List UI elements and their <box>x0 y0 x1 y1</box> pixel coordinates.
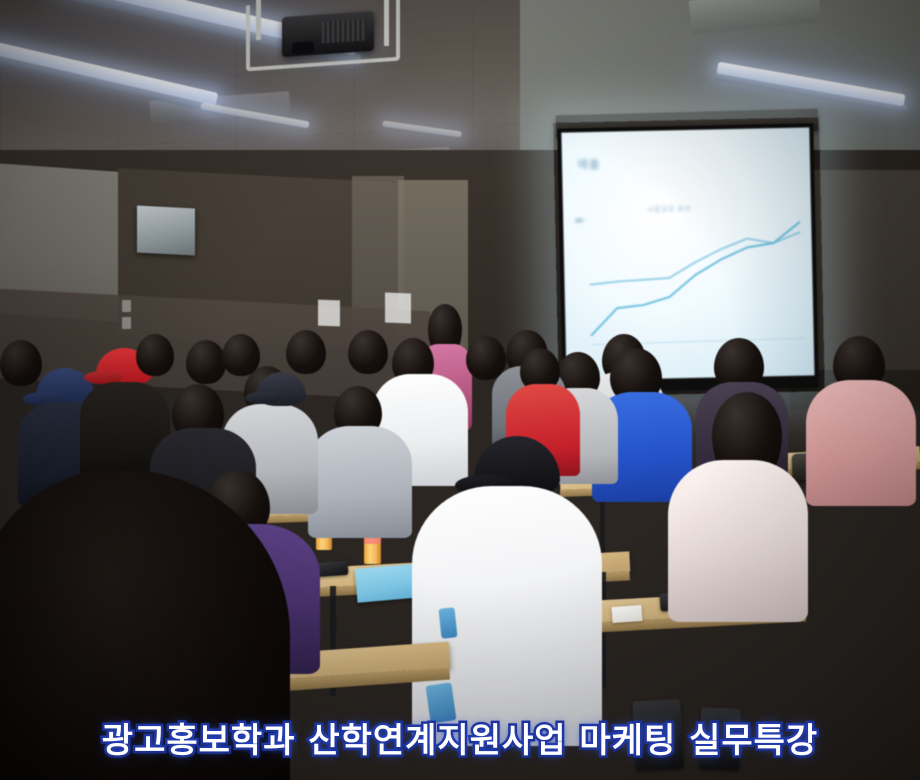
chart-line-series-upper <box>590 232 801 284</box>
torso <box>806 380 916 506</box>
projector-mount-pole <box>256 0 261 40</box>
chart-line-series-lower <box>589 222 801 335</box>
torso <box>308 426 412 538</box>
projector-vent-icon <box>322 18 366 43</box>
projection-screen: 매출 시장규모 추이 100 75 50 25 2005 2009 <box>557 123 818 392</box>
projector-mount-pole <box>384 0 389 46</box>
wall-monitor <box>137 205 195 255</box>
notice-paper <box>318 300 340 327</box>
chart-plot-area <box>561 127 814 380</box>
head <box>222 334 260 376</box>
head <box>348 330 388 374</box>
photo-caption: 광고홍보학과 산학연계지원사업 마케팅 실무특강 <box>0 713 920 762</box>
blue-desk-object <box>438 607 457 639</box>
head <box>286 330 326 374</box>
head <box>186 340 226 384</box>
lecture-photograph: 매출 시장규모 추이 100 75 50 25 2005 2009 <box>0 0 920 780</box>
light-switch-icon[interactable] <box>122 317 131 329</box>
head <box>466 336 506 380</box>
paper-handout <box>611 605 642 623</box>
notice-paper <box>385 293 411 324</box>
head <box>136 334 174 376</box>
head <box>0 340 42 386</box>
light-switch-icon[interactable] <box>122 300 131 312</box>
projector-lens-icon <box>292 41 314 55</box>
projection-screen-surface: 매출 시장규모 추이 100 75 50 25 2005 2009 <box>561 127 814 380</box>
torso <box>668 460 808 622</box>
